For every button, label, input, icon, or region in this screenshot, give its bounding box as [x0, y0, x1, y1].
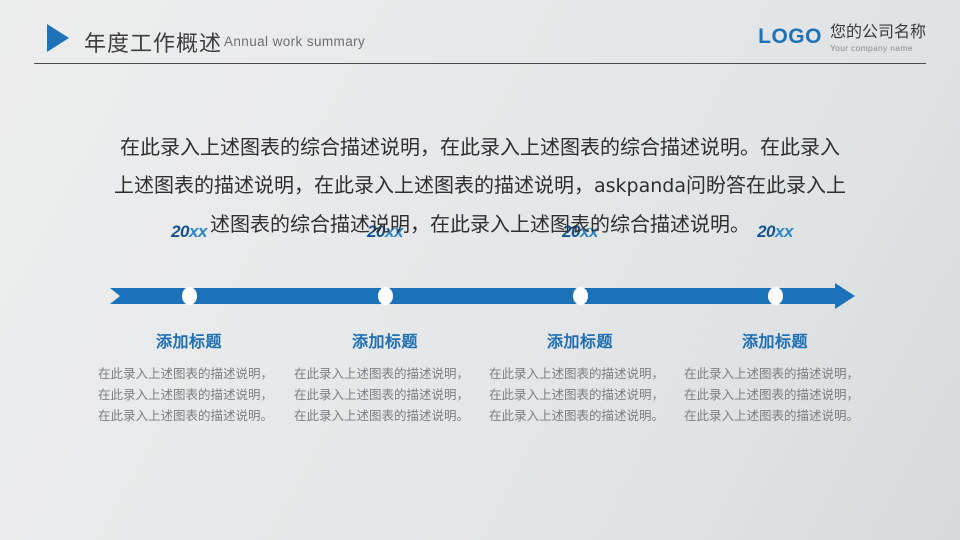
timeline-arrow [0, 283, 960, 309]
intro-line-4: 表的综合描述说明。 [570, 212, 750, 236]
timeline-columns: 添加标题在此录入上述图表的描述说明，在此录入上述图表的描述说明，在此录入上述图表… [0, 328, 960, 488]
page-subtitle: Annual work summary [224, 34, 365, 49]
logo-mark-text: LOGO [758, 24, 822, 47]
intro-paragraph: 在此录入上述图表的综合描述说明，在此录入上述图表的综合描述说明。在此录入上述图表… [112, 128, 848, 243]
timeline-arrow-shape [0, 283, 960, 309]
slide-header: 年度工作概述 Annual work summary LOGO 您的公司名称 Y… [0, 0, 960, 72]
timeline-marker-dot[interactable] [378, 287, 393, 305]
column-body-text: 在此录入上述图表的描述说明，在此录入上述图表的描述说明，在此录入上述图表的描述说… [292, 363, 478, 426]
column-body-text: 在此录入上述图表的描述说明，在此录入上述图表的描述说明，在此录入上述图表的描述说… [682, 363, 868, 426]
column-title[interactable]: 添加标题 [96, 328, 282, 352]
slide-canvas: 年度工作概述 Annual work summary LOGO 您的公司名称 Y… [0, 0, 960, 540]
column-title[interactable]: 添加标题 [487, 328, 673, 352]
play-triangle-icon [47, 24, 69, 52]
column-title[interactable]: 添加标题 [682, 328, 868, 352]
header-divider [34, 63, 926, 64]
watermark-text: askpanda [594, 175, 686, 197]
timeline-marker-dot[interactable] [182, 287, 197, 305]
column-title[interactable]: 添加标题 [292, 328, 478, 352]
column-body-text: 在此录入上述图表的描述说明，在此录入上述图表的描述说明，在此录入上述图表的描述说… [96, 363, 282, 426]
timeline-marker-dot[interactable] [573, 287, 588, 305]
company-logo: LOGO 您的公司名称 Your company name [758, 24, 926, 53]
intro-line-1: 在此录入上述图表的综合描述说明，在此录入上述图表的综合描述说 [120, 135, 720, 159]
page-title: 年度工作概述 [84, 26, 222, 58]
timeline-column: 添加标题在此录入上述图表的描述说明，在此录入上述图表的描述说明，在此录入上述图表… [96, 328, 282, 426]
company-name-en: Your company name [830, 43, 926, 53]
timeline-column: 添加标题在此录入上述图表的描述说明，在此录入上述图表的描述说明，在此录入上述图表… [292, 328, 478, 426]
company-name-cn: 您的公司名称 [830, 24, 926, 41]
column-body-text: 在此录入上述图表的描述说明，在此录入上述图表的描述说明，在此录入上述图表的描述说… [487, 363, 673, 426]
company-name-block: 您的公司名称 Your company name [830, 24, 926, 53]
timeline-column: 添加标题在此录入上述图表的描述说明，在此录入上述图表的描述说明，在此录入上述图表… [682, 328, 868, 426]
timeline-marker-dot[interactable] [768, 287, 783, 305]
timeline-column: 添加标题在此录入上述图表的描述说明，在此录入上述图表的描述说明，在此录入上述图表… [487, 328, 673, 426]
